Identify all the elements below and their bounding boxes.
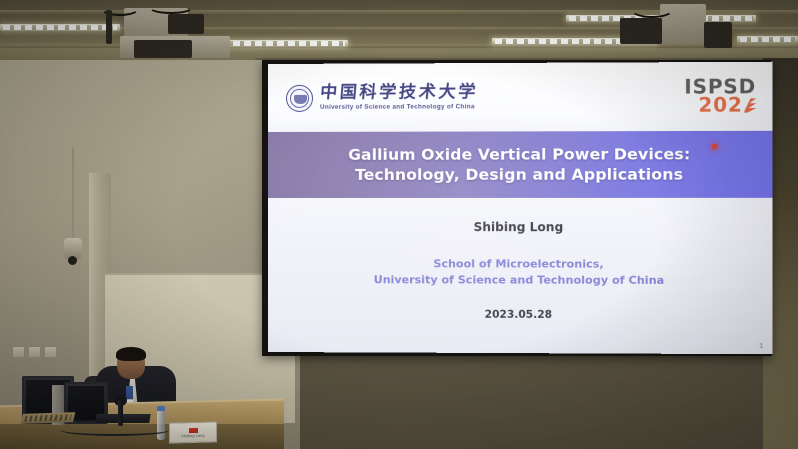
keyboard xyxy=(21,412,76,424)
microphone xyxy=(118,400,123,426)
slide-title-band: Gallium Oxide Vertical Power Devices: Te… xyxy=(268,131,773,198)
ispsd-logo: ISPSD 202 xyxy=(684,78,756,115)
ceiling-equipment-box xyxy=(704,22,732,48)
ceiling-light-strip xyxy=(737,36,798,43)
ustc-name-cn: 中国科学技术大学 xyxy=(319,84,479,102)
ustc-seal-icon xyxy=(286,84,313,111)
wall-outlet-icon xyxy=(28,346,41,358)
slide-title-line-2: Technology, Design and Applications xyxy=(355,165,683,183)
desk-cable xyxy=(60,424,170,436)
ispsd-year-digits: 202 xyxy=(698,96,742,114)
placard-flag-icon xyxy=(189,427,198,432)
ceiling-cable xyxy=(148,0,194,14)
ceiling xyxy=(0,0,798,62)
laser-pointer-dot xyxy=(712,144,717,149)
sensor-lens-icon xyxy=(68,256,77,265)
slide-body: Shibing Long School of Microelectronics,… xyxy=(268,198,773,354)
slide-affiliation-line-2: University of Science and Technology of … xyxy=(374,272,665,289)
wall-outlet-icon xyxy=(44,346,57,358)
water-bottle-cap xyxy=(157,406,165,411)
projection-screen: 中国科学技术大学 University of Science and Techn… xyxy=(268,62,773,355)
sensor-mounting-rod xyxy=(72,148,74,240)
slide-author: Shibing Long xyxy=(474,220,564,234)
ceiling-cable xyxy=(630,0,674,18)
lecture-room-scene: 中国科学技术大学 University of Science and Techn… xyxy=(0,0,798,449)
ustc-logo-text: 中国科学技术大学 University of Science and Techn… xyxy=(320,84,478,111)
slide-title-line-1: Gallium Oxide Vertical Power Devices: xyxy=(348,145,690,164)
slide-affiliation-line-1: School of Microelectronics, xyxy=(374,256,665,273)
laptop xyxy=(95,414,151,423)
ceiling-light-strip xyxy=(0,24,120,31)
placard-name-text: Shibing Long xyxy=(181,433,204,438)
slide-header: 中国科学技术大学 University of Science and Techn… xyxy=(268,62,773,132)
slide-date: 2023.05.28 xyxy=(485,309,552,321)
ustc-name-en: University of Science and Technology of … xyxy=(320,104,478,111)
ispsd-three-mark-icon xyxy=(744,98,756,112)
speaker-hair xyxy=(116,347,146,361)
slide-number: 1 xyxy=(759,343,763,350)
ceiling-cable xyxy=(106,10,112,44)
ispsd-year: 202 xyxy=(698,96,756,114)
ustc-logo: 中国科学技术大学 University of Science and Techn… xyxy=(286,84,478,112)
wall-outlet-icon xyxy=(12,346,25,358)
name-placard: Shibing Long xyxy=(169,421,217,443)
slide-affiliation: School of Microelectronics, University o… xyxy=(374,256,665,289)
ceiling-equipment-box xyxy=(620,18,662,44)
projector-vent xyxy=(134,40,192,58)
projector-mount xyxy=(168,14,204,34)
